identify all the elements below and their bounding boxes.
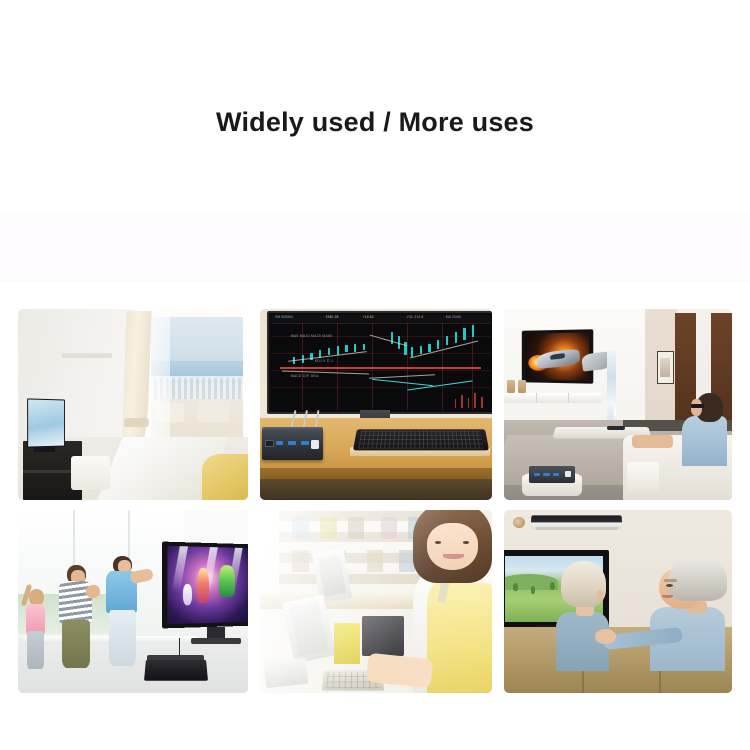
chart-gridline-h [271, 353, 490, 354]
framed-wall-art [657, 351, 674, 384]
tv-picture-racing-game [526, 333, 589, 381]
mother-arm [129, 568, 154, 584]
bed-with-yellow-throw [202, 454, 248, 500]
sofa-armrest [627, 462, 659, 493]
gaming-tv-base [191, 638, 242, 643]
desk-keyboard [353, 430, 489, 451]
photo-hotel-bedroom[interactable] [18, 309, 248, 500]
set-top-box-power-button[interactable] [565, 471, 571, 477]
set-top-box-usb-port [534, 473, 540, 476]
chart-topbar-volume: VOL 214.8 [407, 315, 424, 319]
3d-glasses-icon [691, 404, 704, 409]
chart-candle [446, 336, 448, 346]
desktop-monitor: SH 000001 2940.35 +18.62 VOL 214.8 MA 20… [267, 311, 492, 414]
tv-picture-dance-game [167, 546, 248, 624]
chart-zero-line [280, 367, 481, 368]
chart-candle [455, 332, 457, 342]
chart-volume-bar [474, 393, 476, 408]
chart-candle [328, 348, 330, 355]
viewer-legs [632, 435, 673, 448]
set-top-box-usb-port [553, 473, 559, 476]
photo-family-motion-gaming[interactable] [18, 510, 248, 693]
chart-topbar: SH 000001 2940.35 +18.62 VOL 214.8 MA 20… [271, 315, 490, 324]
chart-candle [345, 345, 347, 352]
elderly-woman-ear [597, 590, 603, 601]
set-top-box-power-button[interactable] [311, 440, 319, 449]
chart-note-middle: KDJ K D J [315, 359, 333, 363]
chart-indicator-line-cyan [372, 378, 433, 386]
framed-wall-art-image [660, 358, 670, 378]
chart-topbar-change: +18.62 [363, 315, 374, 319]
set-top-box-device [262, 429, 322, 460]
keyboard-keys [359, 431, 484, 449]
photo-store-cashier[interactable] [260, 510, 492, 693]
shelf-seam [536, 393, 537, 403]
elderly-woman [554, 561, 622, 671]
chart-topbar-ma: MA 20/60 [446, 315, 461, 319]
father-pants [62, 620, 91, 668]
gaming-tv [162, 541, 248, 628]
chart-indicator-line [369, 374, 435, 378]
chart-volume-bar [481, 397, 483, 408]
patio-chair-right [197, 401, 229, 422]
game-character-back [182, 583, 192, 605]
set-top-box-device [529, 466, 575, 483]
photo-desk-stock-monitor[interactable]: SH 000001 2940.35 +18.62 VOL 214.8 MA 20… [260, 309, 492, 500]
child-player [23, 589, 53, 673]
photo-haze-overlay [260, 510, 492, 693]
chart-gridline-h [271, 387, 490, 388]
desk-edge [260, 468, 492, 479]
chart-topbar-symbol: SH 000001 [275, 315, 293, 319]
photo-living-room-3d-tv-scene [504, 309, 732, 500]
set-top-box-jack [265, 440, 274, 447]
father-player [57, 565, 103, 675]
mother-player [103, 556, 154, 673]
photo-elderly-couple-tv[interactable] [504, 510, 732, 693]
page-root: Widely used / More uses [0, 0, 750, 750]
mother-pants [109, 610, 136, 666]
game-character-main [197, 568, 209, 603]
white-armchair [71, 456, 110, 490]
chart-note-lower: MACD DIF DEA [291, 374, 319, 378]
photo-hotel-bedroom-scene [18, 309, 248, 500]
chart-volume-bar [461, 395, 463, 408]
chart-volume-bar [455, 399, 457, 409]
photo-desk-stock-monitor-scene: SH 000001 2940.35 +18.62 VOL 214.8 MA 20… [260, 309, 492, 500]
set-top-box-usb-port [276, 441, 284, 445]
heading-zone: Widely used / More uses [0, 0, 750, 213]
chart-indicator-line-cyan [407, 381, 472, 391]
ceiling-smoke-detector [513, 517, 524, 528]
chart-candle [420, 346, 422, 354]
decorative-vase [518, 380, 526, 393]
chart-candle [411, 347, 413, 357]
chart-volume-bar [468, 398, 470, 408]
chart-candle [428, 344, 430, 353]
child-torso [26, 604, 46, 634]
chart-candle [463, 328, 465, 339]
chart-candle [437, 340, 439, 350]
shelf-seam [568, 393, 569, 403]
bedroom-wall-shelf [62, 353, 113, 358]
elderly-man-hand [595, 629, 616, 644]
usage-photo-gallery: SH 000001 2940.35 +18.62 VOL 214.8 MA 20… [18, 309, 732, 693]
drape-tieback [124, 418, 149, 428]
tv-remote-control [607, 426, 625, 431]
child-head [29, 589, 43, 606]
set-top-box-usb-port [543, 473, 549, 476]
chart-candle [354, 344, 356, 352]
photo-living-room-3d-tv[interactable] [504, 309, 732, 500]
console-antenna [179, 638, 180, 654]
photo-family-motion-gaming-scene [18, 510, 248, 693]
elderly-man [654, 558, 732, 671]
set-top-box-usb-port [301, 441, 309, 445]
page-title: Widely used / More uses [0, 105, 750, 139]
game-character-side [219, 565, 235, 597]
photo-elderly-couple-tv-scene [504, 510, 732, 693]
child-pants [27, 631, 43, 670]
chart-candle [363, 344, 365, 351]
chart-note-upper: MA5 MA10 MA20 MA60 [291, 334, 333, 338]
chart-topbar-price: 2940.35 [326, 315, 339, 319]
set-top-box-usb-port [288, 441, 296, 445]
viewer-body [682, 416, 728, 466]
air-conditioner-vent [536, 527, 618, 531]
bedroom-tv-screen [27, 398, 65, 447]
tv-base [34, 447, 55, 453]
photo-store-cashier-scene [260, 510, 492, 693]
elderly-man-brow [664, 579, 677, 582]
stock-chart-screen: SH 000001 2940.35 +18.62 VOL 214.8 MA 20… [271, 315, 490, 410]
decorative-vase [507, 380, 515, 393]
media-console-shelf [504, 393, 602, 403]
tinted-divider-band [0, 213, 750, 282]
desk-under-shadow [260, 479, 492, 500]
tv-picture-tree [513, 583, 518, 591]
tv-picture-tree [531, 586, 536, 594]
